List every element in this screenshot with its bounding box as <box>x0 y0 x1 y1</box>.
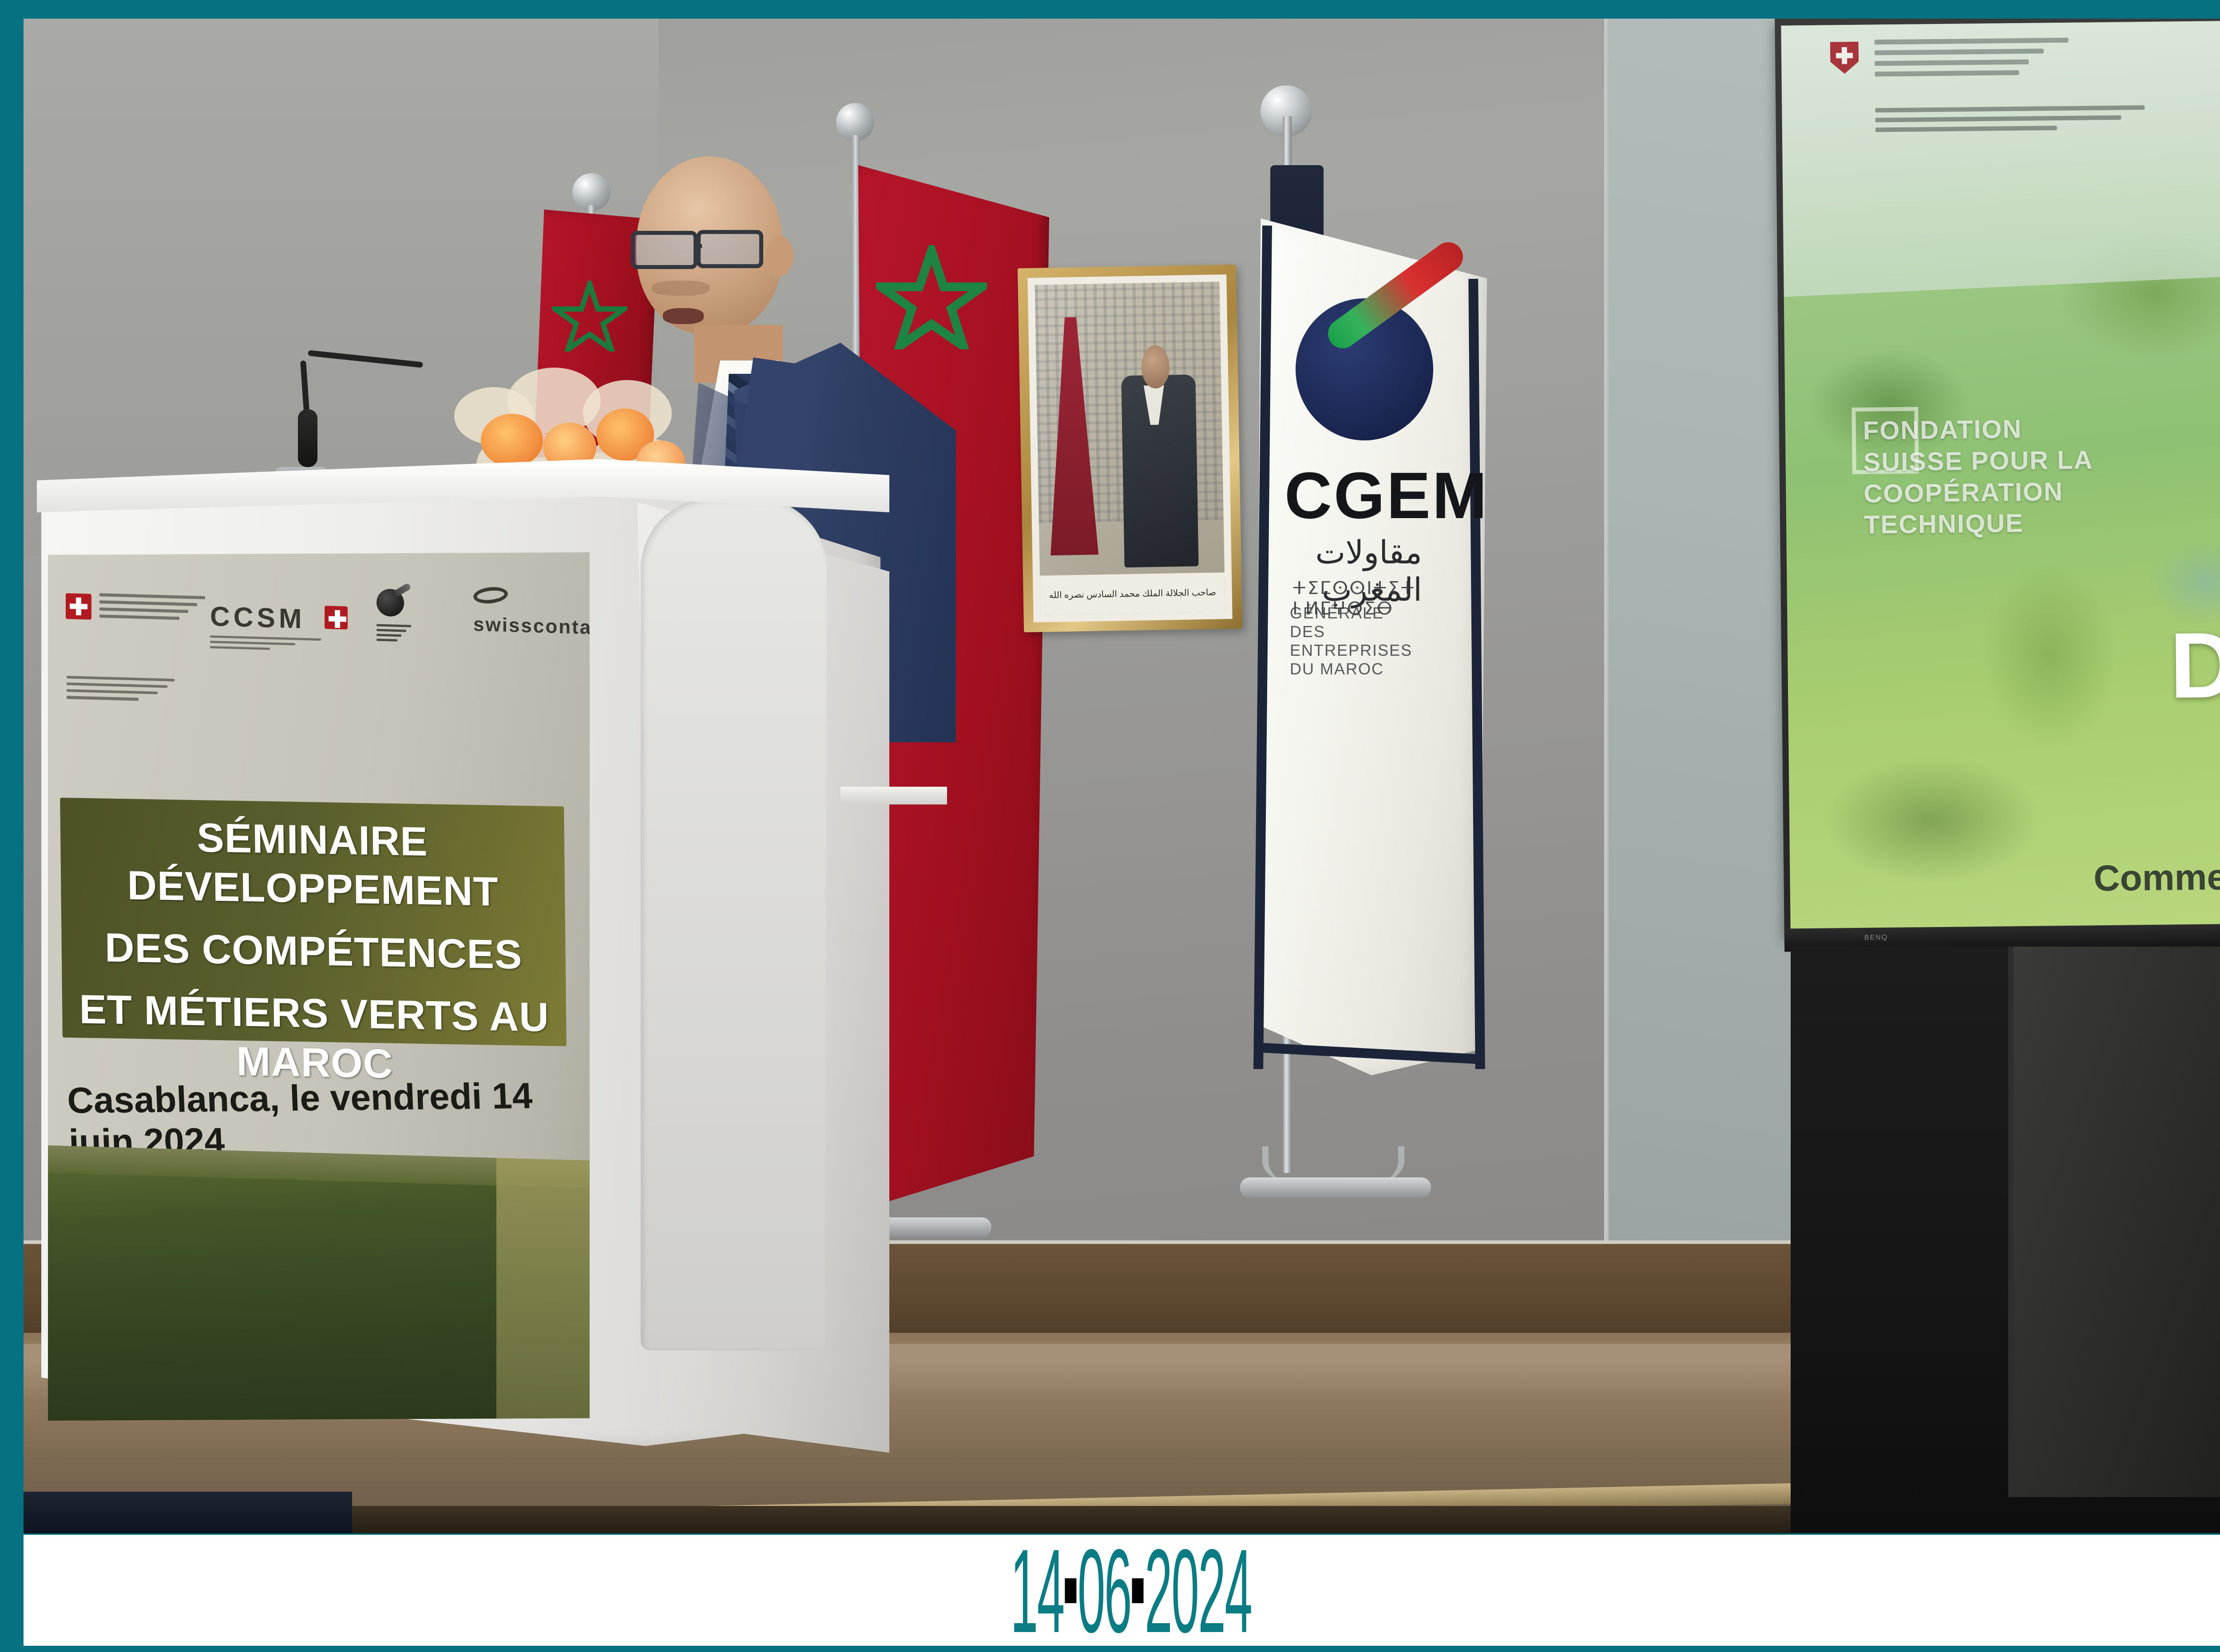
screen-department-lines <box>1875 105 2168 138</box>
podium-shelf <box>840 787 947 804</box>
foundation-line-4: TECHNIQUE <box>1864 507 2149 541</box>
glasses-right-lens <box>697 230 763 268</box>
banner-title-line-3: ET MÉTIERS VERTS AU MAROC <box>62 971 567 1092</box>
speaker-nose-shadow <box>652 281 710 296</box>
glasses-left-lens <box>631 231 698 269</box>
cgem-french-text: GÉNÉRALE DES ENTREPRISES DU MAROC <box>1290 604 1422 678</box>
cgem-stand-legs <box>1262 1146 1404 1182</box>
orange-rose <box>481 414 543 467</box>
screen-big-letter: D <box>2169 611 2220 720</box>
banner-title-box: SÉMINAIRE DÉVELOPPEMENT DES COMPÉTENCES … <box>60 798 567 1046</box>
glasses-bridge <box>694 244 702 248</box>
foundation-line-1: FONDATION <box>1863 412 2148 447</box>
foundation-line-3: COOPÉRATION <box>1863 475 2148 510</box>
screen-body-text: Comment <box>1986 855 2220 902</box>
screen-bezel: FONDATION SUISSE POUR LA COOPÉRATION TEC… <box>1775 19 2220 938</box>
caption-date-primary: 14062024 <box>666 1535 1596 1646</box>
banner-logo-row: CCSM swisscontact <box>48 562 590 697</box>
ccsm-subtext-lines <box>210 635 325 651</box>
stage-front-left-shadow <box>24 1492 352 1533</box>
projection-screen: FONDATION SUISSE POUR LA COOPÉRATION TEC… <box>1775 19 2220 938</box>
caption-band: 14062024 14062024 <box>24 1535 2220 1646</box>
screen-lower-right-panel <box>2014 947 2220 1497</box>
swiss-cross-icon <box>325 606 348 629</box>
event-photograph: صاحب الجلالة الملك محمد السادس نصره الله… <box>24 19 2220 1533</box>
screen-canvas: FONDATION SUISSE POUR LA COOPÉRATION TEC… <box>1781 20 2220 930</box>
swiss-logo-text-lines <box>99 593 210 625</box>
screen-confederation-lines <box>1875 37 2124 83</box>
caption-date-separator <box>1065 1578 1076 1603</box>
ccsm-logo: CCSM <box>210 601 325 651</box>
screen-brand-label: BENQ <box>1864 934 1888 942</box>
cgem-globe-icon <box>377 589 404 617</box>
foundation-line-2: SUISSE POUR LA <box>1863 444 2148 478</box>
caption-date-year: 2024 <box>1145 1535 1251 1646</box>
podium-banner: CCSM swisscontact <box>48 537 590 1436</box>
podium-recess <box>641 498 827 1351</box>
caption-date-separator <box>1132 1578 1144 1603</box>
swisscontact-logo: swisscontact <box>473 587 590 640</box>
cgem-logo-subtext-lines <box>377 624 411 642</box>
caption-date-block: 14062024 14062024 <box>24 1535 2220 1646</box>
banner-field-photo <box>48 1145 590 1436</box>
swisscontact-mark-icon <box>472 586 509 605</box>
cgem-flag-assembly: CGEM مقاولات المغرب ⵜⵉⵎⵙⵙⵏⵜⵉⵜ ⵏ ⵍⵎⵖⵔⵉⴱ G… <box>1173 85 1422 1248</box>
slide-frame: صاحب الجلالة الملك محمد السادس نصره الله… <box>0 0 2220 1652</box>
portrait-figure-head <box>1141 345 1169 389</box>
ccsm-wordmark: CCSM <box>210 601 325 635</box>
swisscontact-wordmark: swisscontact <box>473 614 590 640</box>
banner-title-line-1: SÉMINAIRE DÉVELOPPEMENT <box>60 798 565 918</box>
banner-title-line-2: DES COMPÉTENCES <box>61 909 566 980</box>
cgem-logo <box>377 589 411 642</box>
speaker-mouth <box>663 308 704 324</box>
cgem-wordmark: CGEM <box>1284 458 1489 534</box>
microphone-head <box>298 409 317 467</box>
swiss-cross-icon <box>66 593 91 620</box>
cgem-stand-base <box>1240 1177 1431 1198</box>
caption-date-month: 06 <box>1078 1535 1131 1646</box>
banner-field-path <box>496 1158 590 1436</box>
screen-panel-divider <box>2008 947 2014 1497</box>
caption-date-day: 14 <box>1011 1535 1064 1646</box>
speaker-ear <box>766 236 793 276</box>
screen-foundation-text: FONDATION SUISSE POUR LA COOPÉRATION TEC… <box>1863 412 2149 541</box>
swiss-logo-subtext-lines <box>67 676 186 706</box>
